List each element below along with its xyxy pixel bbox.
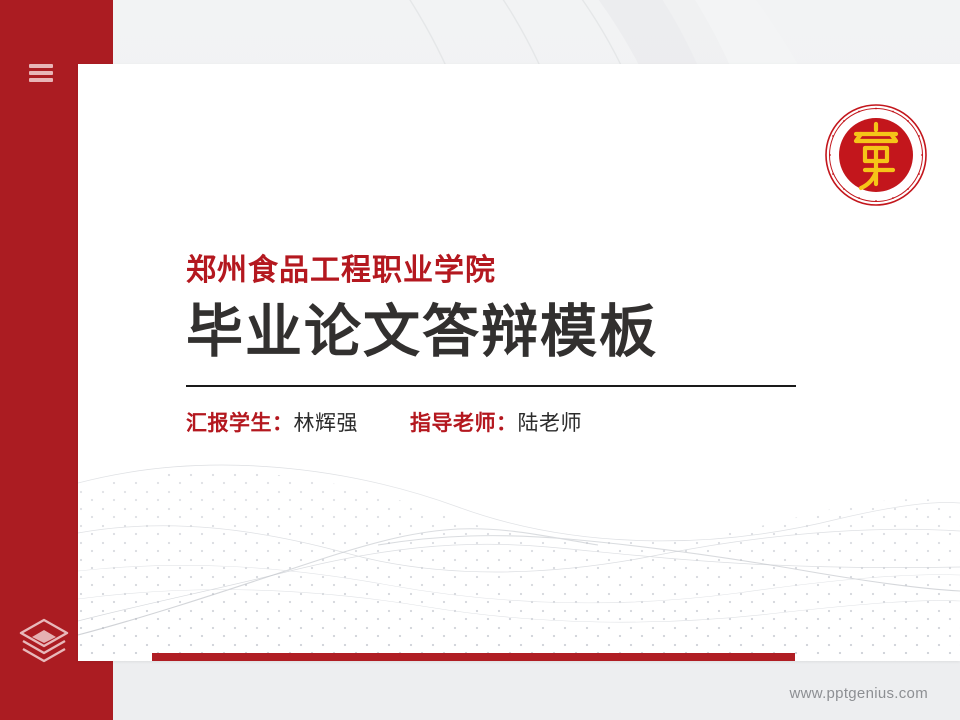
site-watermark: www.pptgenius.com xyxy=(790,685,929,702)
presenter-label: 汇报学生： xyxy=(186,411,294,436)
stacked-layers-icon[interactable] xyxy=(18,616,70,666)
presenter-name: 林辉强 xyxy=(294,411,359,436)
bottom-red-accent-bar xyxy=(152,653,795,661)
dot-mesh-wave-decoration xyxy=(78,421,960,661)
school-name: 郑州食品工程职业学院 xyxy=(186,254,886,287)
title-divider xyxy=(186,385,796,387)
hamburger-menu-icon[interactable] xyxy=(29,64,53,82)
title-text-block: 郑州食品工程职业学院 毕业论文答辩模板 汇报学生： 林辉强 指导老师： 陆老师 xyxy=(186,254,886,436)
hamburger-line xyxy=(29,78,53,82)
university-crest-icon xyxy=(823,102,929,208)
advisor-label: 指导老师： xyxy=(410,411,518,436)
presentation-slide: 郑州食品工程职业学院 毕业论文答辩模板 汇报学生： 林辉强 指导老师： 陆老师 … xyxy=(0,0,960,720)
people-line: 汇报学生： 林辉强 指导老师： 陆老师 xyxy=(186,411,886,436)
hamburger-line xyxy=(29,71,53,75)
slide-content-card: 郑州食品工程职业学院 毕业论文答辩模板 汇报学生： 林辉强 指导老师： 陆老师 xyxy=(78,64,960,661)
hamburger-line xyxy=(29,64,53,68)
advisor-name: 陆老师 xyxy=(518,411,583,436)
page-title: 毕业论文答辩模板 xyxy=(186,301,886,365)
